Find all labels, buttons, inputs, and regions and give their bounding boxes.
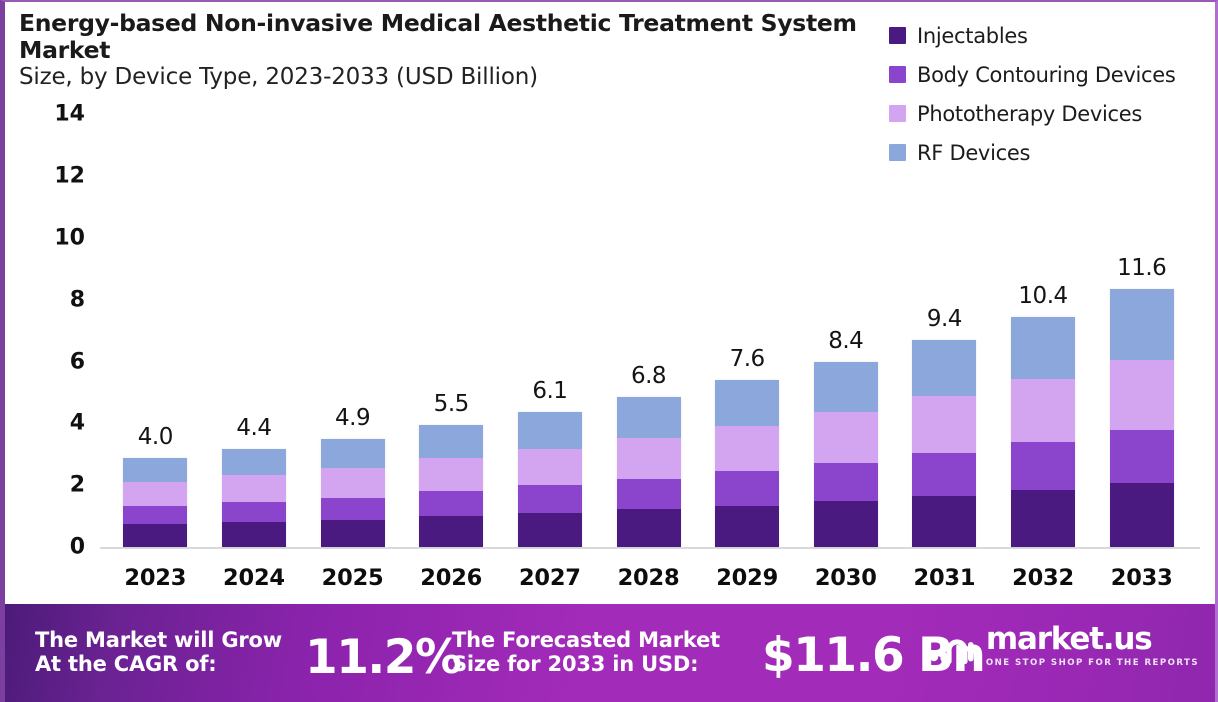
bar-segment-rf-devices[interactable] xyxy=(1011,317,1075,380)
bar-segment-rf-devices[interactable] xyxy=(912,340,976,396)
bar-segment-body-contouring-devices[interactable] xyxy=(1011,442,1075,489)
bar-segment-body-contouring-devices[interactable] xyxy=(715,471,779,505)
market-us-logo-icon xyxy=(927,626,977,666)
cagr-label-line1: The Market will Grow xyxy=(35,628,282,652)
bar-data-label: 11.6 xyxy=(1117,255,1166,281)
bar-group-2027[interactable]: 6.12027 xyxy=(518,412,582,547)
logo-name: market.us xyxy=(986,624,1199,655)
cagr-value: 11.2% xyxy=(305,630,461,685)
bar-segment-rf-devices[interactable] xyxy=(715,380,779,425)
bar-segment-phototherapy-devices[interactable] xyxy=(321,468,385,498)
stacked-bar[interactable] xyxy=(814,362,878,547)
x-axis-label-2027: 2027 xyxy=(519,565,581,591)
bar-group-2025[interactable]: 4.92025 xyxy=(321,439,385,547)
stacked-bar[interactable] xyxy=(321,439,385,547)
x-axis-label-2029: 2029 xyxy=(716,565,778,591)
market-us-logo[interactable]: market.us ONE STOP SHOP FOR THE REPORTS xyxy=(927,624,1199,668)
stacked-bar[interactable] xyxy=(715,380,779,547)
bar-group-2032[interactable]: 10.42032 xyxy=(1011,317,1075,547)
bar-series-container: 4.020234.420244.920255.520266.120276.820… xyxy=(100,2,1200,602)
bar-group-2023[interactable]: 4.02023 xyxy=(123,458,187,547)
bar-segment-injectables[interactable] xyxy=(518,513,582,547)
bar-group-2024[interactable]: 4.42024 xyxy=(222,449,286,547)
bar-segment-rf-devices[interactable] xyxy=(1110,289,1174,359)
bar-segment-body-contouring-devices[interactable] xyxy=(518,485,582,513)
bar-segment-phototherapy-devices[interactable] xyxy=(419,458,483,491)
y-axis-tick-0: 0 xyxy=(25,535,85,560)
cagr-label: The Market will Grow At the CAGR of: xyxy=(35,628,282,677)
bar-segment-injectables[interactable] xyxy=(123,524,187,547)
y-axis-tick-4: 4 xyxy=(25,411,85,436)
bar-segment-injectables[interactable] xyxy=(1011,490,1075,547)
footer-banner: The Market will Grow At the CAGR of: 11.… xyxy=(5,604,1215,702)
plot-area: 02468101214 4.020234.420244.920255.52026… xyxy=(5,2,1218,602)
bar-segment-rf-devices[interactable] xyxy=(321,439,385,468)
bar-segment-phototherapy-devices[interactable] xyxy=(222,475,286,502)
y-axis-tick-6: 6 xyxy=(25,349,85,374)
bar-data-label: 4.9 xyxy=(335,405,370,431)
forecast-size-label: The Forecasted Market Size for 2033 in U… xyxy=(452,628,720,677)
y-axis-tick-14: 14 xyxy=(25,102,85,127)
x-axis-label-2028: 2028 xyxy=(618,565,680,591)
stacked-bar[interactable] xyxy=(912,340,976,547)
forecast-size-label-line1: The Forecasted Market xyxy=(452,628,720,652)
bar-segment-injectables[interactable] xyxy=(715,506,779,547)
bar-segment-rf-devices[interactable] xyxy=(617,397,681,438)
x-axis-label-2023: 2023 xyxy=(124,565,186,591)
bar-data-label: 10.4 xyxy=(1018,283,1067,309)
bar-data-label: 6.8 xyxy=(631,363,666,389)
bar-segment-phototherapy-devices[interactable] xyxy=(123,482,187,506)
bar-segment-phototherapy-devices[interactable] xyxy=(814,412,878,463)
logo-tagline: ONE STOP SHOP FOR THE REPORTS xyxy=(986,658,1199,668)
bar-segment-body-contouring-devices[interactable] xyxy=(222,502,286,522)
chart-poster: Energy-based Non-invasive Medical Aesthe… xyxy=(0,0,1218,702)
stacked-bar[interactable] xyxy=(1011,317,1075,547)
bar-segment-phototherapy-devices[interactable] xyxy=(518,449,582,486)
y-axis-tick-8: 8 xyxy=(25,287,85,312)
bar-segment-rf-devices[interactable] xyxy=(123,458,187,482)
bar-segment-rf-devices[interactable] xyxy=(518,412,582,448)
bar-group-2029[interactable]: 7.62029 xyxy=(715,380,779,547)
bar-data-label: 4.0 xyxy=(138,424,173,450)
bar-segment-injectables[interactable] xyxy=(419,516,483,547)
y-axis-tick-2: 2 xyxy=(25,473,85,498)
stacked-bar[interactable] xyxy=(617,397,681,547)
bar-segment-phototherapy-devices[interactable] xyxy=(617,438,681,479)
bar-data-label: 9.4 xyxy=(927,306,962,332)
bar-group-2031[interactable]: 9.42031 xyxy=(912,340,976,547)
bar-data-label: 6.1 xyxy=(532,378,567,404)
x-axis-label-2026: 2026 xyxy=(420,565,482,591)
bar-group-2030[interactable]: 8.42030 xyxy=(814,362,878,547)
cagr-label-line2: At the CAGR of: xyxy=(35,652,282,676)
bar-segment-phototherapy-devices[interactable] xyxy=(912,396,976,453)
bar-segment-rf-devices[interactable] xyxy=(222,449,286,475)
x-axis-label-2031: 2031 xyxy=(913,565,975,591)
stacked-bar[interactable] xyxy=(123,458,187,547)
bar-segment-injectables[interactable] xyxy=(321,520,385,548)
bar-segment-body-contouring-devices[interactable] xyxy=(1110,430,1174,483)
stacked-bar[interactable] xyxy=(222,449,286,547)
x-axis-label-2033: 2033 xyxy=(1111,565,1173,591)
bar-segment-body-contouring-devices[interactable] xyxy=(814,463,878,501)
bar-segment-body-contouring-devices[interactable] xyxy=(912,453,976,496)
bar-segment-injectables[interactable] xyxy=(1110,483,1174,547)
bar-group-2028[interactable]: 6.82028 xyxy=(617,397,681,547)
bar-segment-body-contouring-devices[interactable] xyxy=(419,491,483,516)
bar-segment-body-contouring-devices[interactable] xyxy=(123,506,187,524)
y-axis-tick-12: 12 xyxy=(25,164,85,189)
bar-segment-phototherapy-devices[interactable] xyxy=(1110,360,1174,430)
y-axis-tick-10: 10 xyxy=(25,226,85,251)
y-axis: 02468101214 xyxy=(23,2,85,602)
stacked-bar[interactable] xyxy=(419,425,483,547)
x-axis-label-2030: 2030 xyxy=(815,565,877,591)
bar-segment-injectables[interactable] xyxy=(222,522,286,547)
bar-segment-phototherapy-devices[interactable] xyxy=(1011,379,1075,442)
bar-segment-phototherapy-devices[interactable] xyxy=(715,426,779,472)
x-axis-label-2025: 2025 xyxy=(322,565,384,591)
bar-segment-injectables[interactable] xyxy=(617,509,681,547)
bar-segment-body-contouring-devices[interactable] xyxy=(617,479,681,509)
bar-segment-rf-devices[interactable] xyxy=(419,425,483,458)
stacked-bar[interactable] xyxy=(518,412,582,547)
stacked-bar[interactable] xyxy=(1110,289,1174,547)
bar-data-label: 8.4 xyxy=(828,328,863,354)
bar-segment-rf-devices[interactable] xyxy=(814,362,878,412)
logo-text-block: market.us ONE STOP SHOP FOR THE REPORTS xyxy=(986,624,1199,668)
bar-segment-body-contouring-devices[interactable] xyxy=(321,498,385,520)
bar-segment-injectables[interactable] xyxy=(912,496,976,547)
bar-group-2026[interactable]: 5.52026 xyxy=(419,425,483,547)
bar-data-label: 4.4 xyxy=(236,415,271,441)
x-axis-label-2024: 2024 xyxy=(223,565,285,591)
bar-group-2033[interactable]: 11.62033 xyxy=(1110,289,1174,547)
bar-data-label: 7.6 xyxy=(730,346,765,372)
bar-segment-injectables[interactable] xyxy=(814,501,878,547)
forecast-size-label-line2: Size for 2033 in USD: xyxy=(452,652,720,676)
bar-data-label: 5.5 xyxy=(434,391,469,417)
x-axis-label-2032: 2032 xyxy=(1012,565,1074,591)
